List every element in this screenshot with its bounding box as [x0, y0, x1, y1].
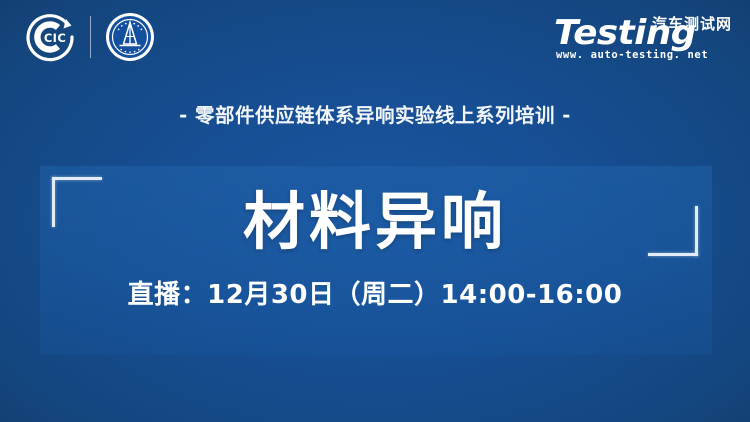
- left-logo-group: CIC: [22, 10, 155, 64]
- series-subtitle: - 零部件供应链体系异响实验线上系列培训 -: [0, 99, 750, 128]
- logo-divider: [90, 16, 91, 58]
- cic-logo-icon: CIC: [22, 11, 78, 63]
- webinar-poster: CIC: [0, 0, 750, 422]
- broadcast-schedule: 直播：12月30日（周二）14:00-16:00: [0, 274, 750, 311]
- brand-website-url: www. auto-testing. net: [556, 49, 708, 61]
- auto-testing-brand-logo: Testing 汽车测试网 www. auto-testing. net: [550, 8, 740, 66]
- brand-chinese-name: 汽车测试网: [652, 13, 732, 34]
- caeri-logo-icon: [105, 12, 155, 62]
- svg-text:CIC: CIC: [44, 31, 66, 45]
- page-title: 材料异响: [0, 189, 750, 254]
